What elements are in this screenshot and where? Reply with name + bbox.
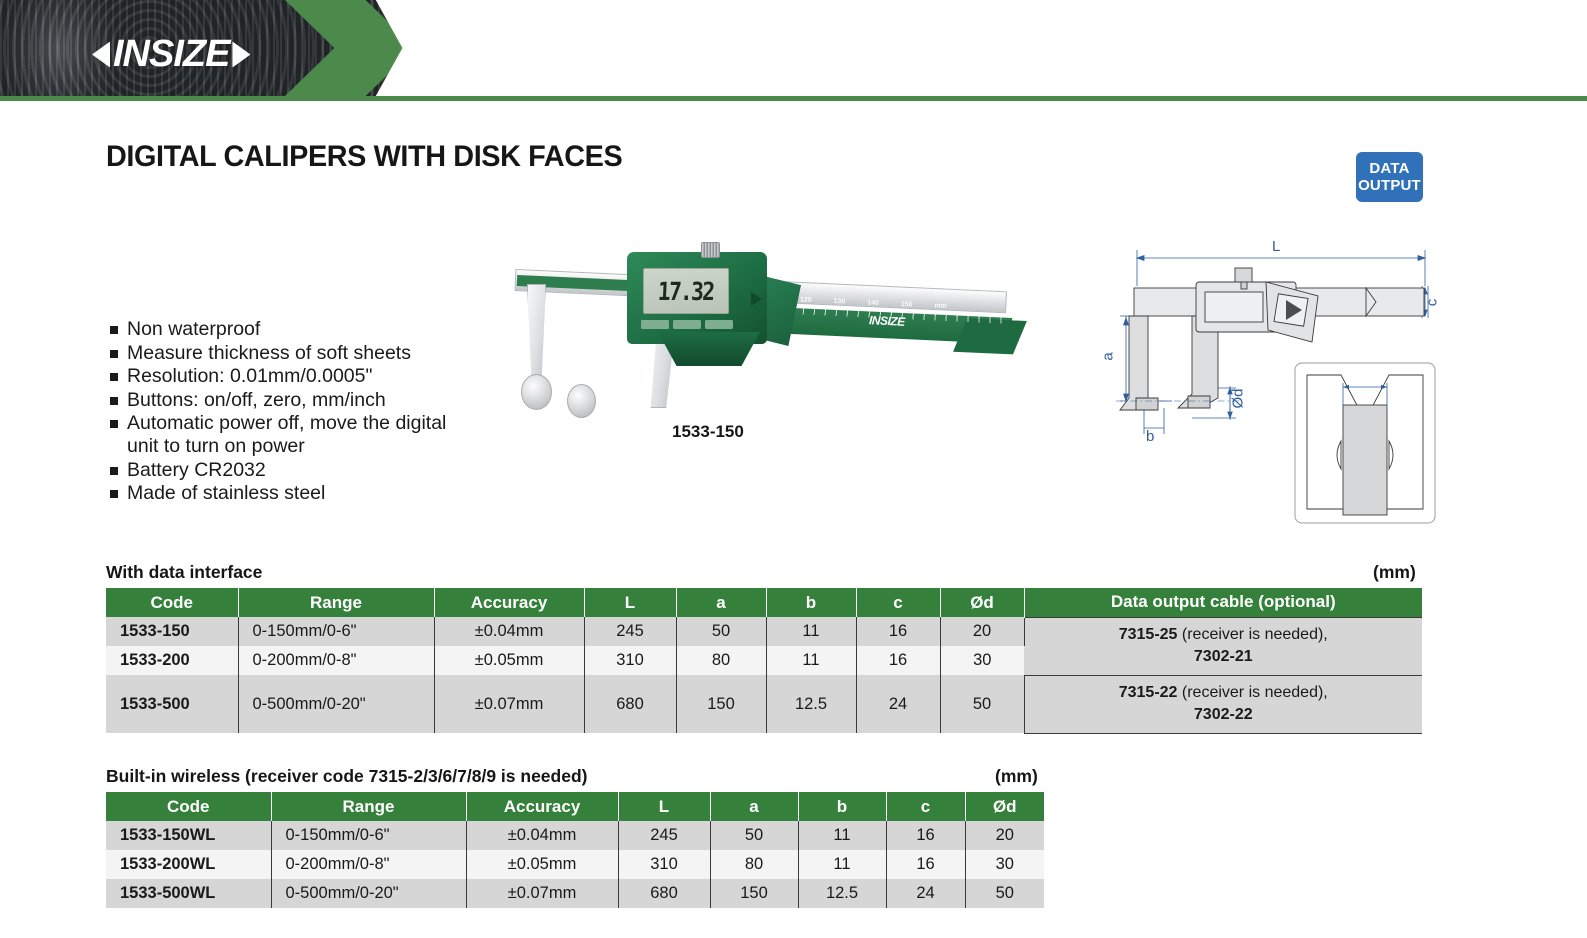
list-item: Automatic power off, move the digital un… <box>110 412 480 458</box>
cell-range: 0-150mm/0-6" <box>238 617 434 646</box>
cell-L: 680 <box>584 675 676 733</box>
table-row: 1533-500 0-500mm/0-20" ±0.07mm 680 150 1… <box>106 675 1422 733</box>
col-b: b <box>766 588 856 617</box>
triangle-mark-icon <box>751 292 762 306</box>
feature-text: Automatic power off, move the digital un… <box>127 412 446 458</box>
data-badge-line2: OUTPUT <box>1358 177 1421 194</box>
cell-a: 80 <box>710 850 798 879</box>
dimension-label-d: Ød <box>1230 388 1247 408</box>
square-bullet-icon <box>110 467 118 475</box>
col-L: L <box>618 792 710 821</box>
cell-code: 1533-200 <box>106 646 238 675</box>
col-code: Code <box>106 792 271 821</box>
cell-d: 50 <box>965 879 1044 908</box>
cell-b: 11 <box>798 821 886 850</box>
cell-range: 0-200mm/0-8" <box>271 850 466 879</box>
col-code: Code <box>106 588 238 617</box>
feature-text: Made of stainless steel <box>127 482 325 505</box>
data-interface-table: Code Range Accuracy L a b c Ød Data outp… <box>106 588 1422 734</box>
technical-drawing: L a b c Ød <box>1080 238 1440 538</box>
logo-left-arrow-icon <box>92 42 110 68</box>
table-header-row: Code Range Accuracy L a b c Ød Data outp… <box>106 588 1422 617</box>
cell-range: 0-200mm/0-8" <box>238 646 434 675</box>
table2-caption: Built-in wireless (receiver code 7315-2/… <box>106 766 587 787</box>
table1-unit: (mm) <box>1373 562 1416 583</box>
cell-cable: 7315-25 (receiver is needed), 7302-21 <box>1024 617 1422 675</box>
col-a: a <box>710 792 798 821</box>
scale-label: mm <box>934 303 947 320</box>
col-range: Range <box>271 792 466 821</box>
dimension-label-b: b <box>1146 428 1154 445</box>
cable-note: (receiver is needed), <box>1177 684 1327 701</box>
cell-range: 0-150mm/0-6" <box>271 821 466 850</box>
cell-range: 0-500mm/0-20" <box>238 675 434 733</box>
square-bullet-icon <box>110 490 118 498</box>
square-bullet-icon <box>110 326 118 334</box>
logo-text: INSIZE <box>113 33 229 76</box>
cell-c: 24 <box>886 879 965 908</box>
col-accuracy: Accuracy <box>466 792 618 821</box>
table-row: 1533-150WL 0-150mm/0-6" ±0.04mm 245 50 1… <box>106 821 1044 850</box>
table-row: 1533-500WL 0-500mm/0-20" ±0.07mm 680 150… <box>106 879 1044 908</box>
button-onoff <box>641 320 669 329</box>
caliper-buttons <box>641 320 733 329</box>
cell-L: 245 <box>584 617 676 646</box>
col-b: b <box>798 792 886 821</box>
cell-b: 12.5 <box>766 675 856 733</box>
cell-b: 11 <box>766 646 856 675</box>
square-bullet-icon <box>110 350 118 358</box>
cell-L: 310 <box>584 646 676 675</box>
square-bullet-icon <box>110 373 118 381</box>
cell-a: 150 <box>710 879 798 908</box>
data-badge-line1: DATA <box>1369 160 1409 177</box>
cell-accuracy: ±0.07mm <box>434 675 584 733</box>
square-bullet-icon <box>110 397 118 405</box>
cell-b: 11 <box>766 617 856 646</box>
cell-d: 20 <box>940 617 1024 646</box>
cable-code: 7315-22 <box>1119 684 1178 701</box>
feature-text: Resolution: 0.01mm/0.0005" <box>127 365 372 388</box>
cell-b: 12.5 <box>798 879 886 908</box>
cell-code: 1533-500WL <box>106 879 271 908</box>
table2-unit: (mm) <box>995 766 1038 787</box>
feature-text: Buttons: on/off, zero, mm/inch <box>127 389 386 412</box>
cell-cable: 7315-22 (receiver is needed), 7302-22 <box>1024 675 1422 733</box>
feature-list: Non waterproof Measure thickness of soft… <box>110 318 480 506</box>
cable-code: 7315-25 <box>1119 626 1178 643</box>
col-accuracy: Accuracy <box>434 588 584 617</box>
feature-text: Measure thickness of soft sheets <box>127 342 411 365</box>
table-header-row: Code Range Accuracy L a b c Ød <box>106 792 1044 821</box>
table-row: 1533-150 0-150mm/0-6" ±0.04mm 245 50 11 … <box>106 617 1422 646</box>
scale-label: 120 <box>799 296 811 313</box>
col-a: a <box>676 588 766 617</box>
cell-d: 50 <box>940 675 1024 733</box>
cell-accuracy: ±0.04mm <box>434 617 584 646</box>
cell-accuracy: ±0.07mm <box>466 879 618 908</box>
cell-d: 20 <box>965 821 1044 850</box>
cell-a: 150 <box>676 675 766 733</box>
cell-a: 80 <box>676 646 766 675</box>
cable-note: (receiver is needed), <box>1177 626 1327 643</box>
cell-accuracy: ±0.04mm <box>466 821 618 850</box>
col-c: c <box>886 792 965 821</box>
caliper-beam-tip <box>953 318 1027 354</box>
cell-c: 24 <box>856 675 940 733</box>
cell-L: 310 <box>618 850 710 879</box>
cell-accuracy: ±0.05mm <box>434 646 584 675</box>
cable-second-code: 7302-21 <box>1194 648 1253 665</box>
cell-range: 0-500mm/0-20" <box>271 879 466 908</box>
list-item: Battery CR2032 <box>110 459 480 482</box>
feature-text: Battery CR2032 <box>127 459 266 482</box>
dimension-label-c: c <box>1423 299 1440 307</box>
col-c: c <box>856 588 940 617</box>
list-item: Made of stainless steel <box>110 482 480 505</box>
header-banner: INSIZE <box>0 0 1587 96</box>
dimension-label-L: L <box>1272 238 1280 255</box>
feature-text: Non waterproof <box>127 318 260 341</box>
cell-b: 11 <box>798 850 886 879</box>
cell-d: 30 <box>965 850 1044 879</box>
cell-code: 1533-500 <box>106 675 238 733</box>
dimension-label-a: a <box>1100 352 1117 360</box>
logo-right-arrow-icon <box>232 42 250 68</box>
thumb-wheel-icon <box>701 242 720 258</box>
col-d: Ød <box>965 792 1044 821</box>
beam-brand-text: INSIZE <box>869 313 905 329</box>
list-item: Measure thickness of soft sheets <box>110 342 480 365</box>
insize-logo: INSIZE <box>92 33 250 76</box>
col-range: Range <box>238 588 434 617</box>
banner-divider <box>0 96 1587 101</box>
list-item: Buttons: on/off, zero, mm/inch <box>110 389 480 412</box>
cell-L: 245 <box>618 821 710 850</box>
cell-c: 16 <box>886 850 965 879</box>
disk-face-left <box>521 374 552 410</box>
cell-code: 1533-150WL <box>106 821 271 850</box>
page-title: DIGITAL CALIPERS WITH DISK FACES <box>106 140 622 174</box>
builtin-wireless-table: Code Range Accuracy L a b c Ød 1533-150W… <box>106 792 1044 908</box>
product-caption: 1533-150 <box>672 422 744 442</box>
lcd-display: 17.32 <box>643 268 729 314</box>
button-mminch <box>705 320 733 329</box>
cell-c: 16 <box>856 646 940 675</box>
col-cable: Data output cable (optional) <box>1024 588 1422 617</box>
col-L: L <box>584 588 676 617</box>
cell-code: 1533-200WL <box>106 850 271 879</box>
cell-a: 50 <box>676 617 766 646</box>
cell-L: 680 <box>618 879 710 908</box>
product-photo: 90 100 110 120 130 140 150 mm INSIZE 17.… <box>455 248 1035 423</box>
list-item: Resolution: 0.01mm/0.0005" <box>110 365 480 388</box>
cell-code: 1533-150 <box>106 617 238 646</box>
cell-c: 16 <box>886 821 965 850</box>
list-item: Non waterproof <box>110 318 480 341</box>
scale-label: 130 <box>833 298 845 315</box>
table1-caption: With data interface <box>106 562 262 583</box>
cell-d: 30 <box>940 646 1024 675</box>
cell-c: 16 <box>856 617 940 646</box>
table-row: 1533-200WL 0-200mm/0-8" ±0.05mm 310 80 1… <box>106 850 1044 879</box>
square-bullet-icon <box>110 420 118 428</box>
cable-second-code: 7302-22 <box>1194 706 1253 723</box>
col-d: Ød <box>940 588 1024 617</box>
disk-face-right <box>567 384 596 418</box>
cell-a: 50 <box>710 821 798 850</box>
cell-accuracy: ±0.05mm <box>466 850 618 879</box>
lcd-value: 17.32 <box>658 277 715 306</box>
data-output-badge: DATA OUTPUT <box>1356 152 1423 202</box>
button-zero <box>673 320 701 329</box>
